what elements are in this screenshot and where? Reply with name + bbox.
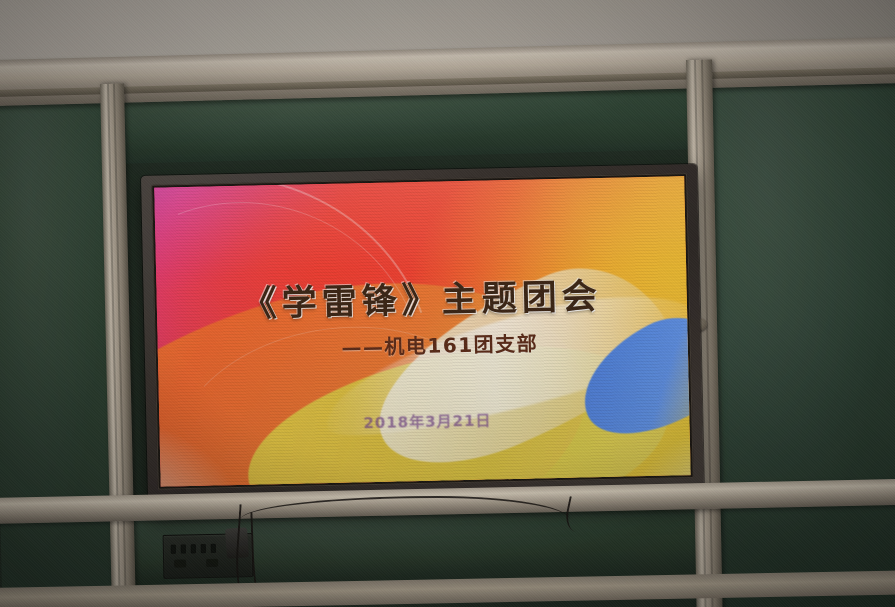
socket-hole — [171, 545, 176, 554]
socket-hole — [211, 544, 216, 553]
socket-hole — [181, 544, 186, 553]
screen-scanlines — [154, 176, 690, 486]
socket-port — [174, 559, 186, 567]
tv-screen[interactable]: 《学雷锋》主题团会 ——机电161团支部 2018年3月21日 — [154, 176, 690, 486]
wall-mounted-television[interactable]: 《学雷锋》主题团会 ——机电161团支部 2018年3月21日 Hisense — [141, 164, 704, 512]
rail-groove — [113, 84, 127, 607]
chalkboard-panel-right — [700, 58, 895, 607]
socket-hole — [191, 544, 196, 553]
socket-port — [206, 559, 218, 567]
socket-hole-row — [171, 544, 216, 554]
classroom-photo: 《学雷锋》主题团会 ——机电161团支部 2018年3月21日 Hisense — [0, 0, 895, 607]
socket-hole — [201, 544, 206, 553]
